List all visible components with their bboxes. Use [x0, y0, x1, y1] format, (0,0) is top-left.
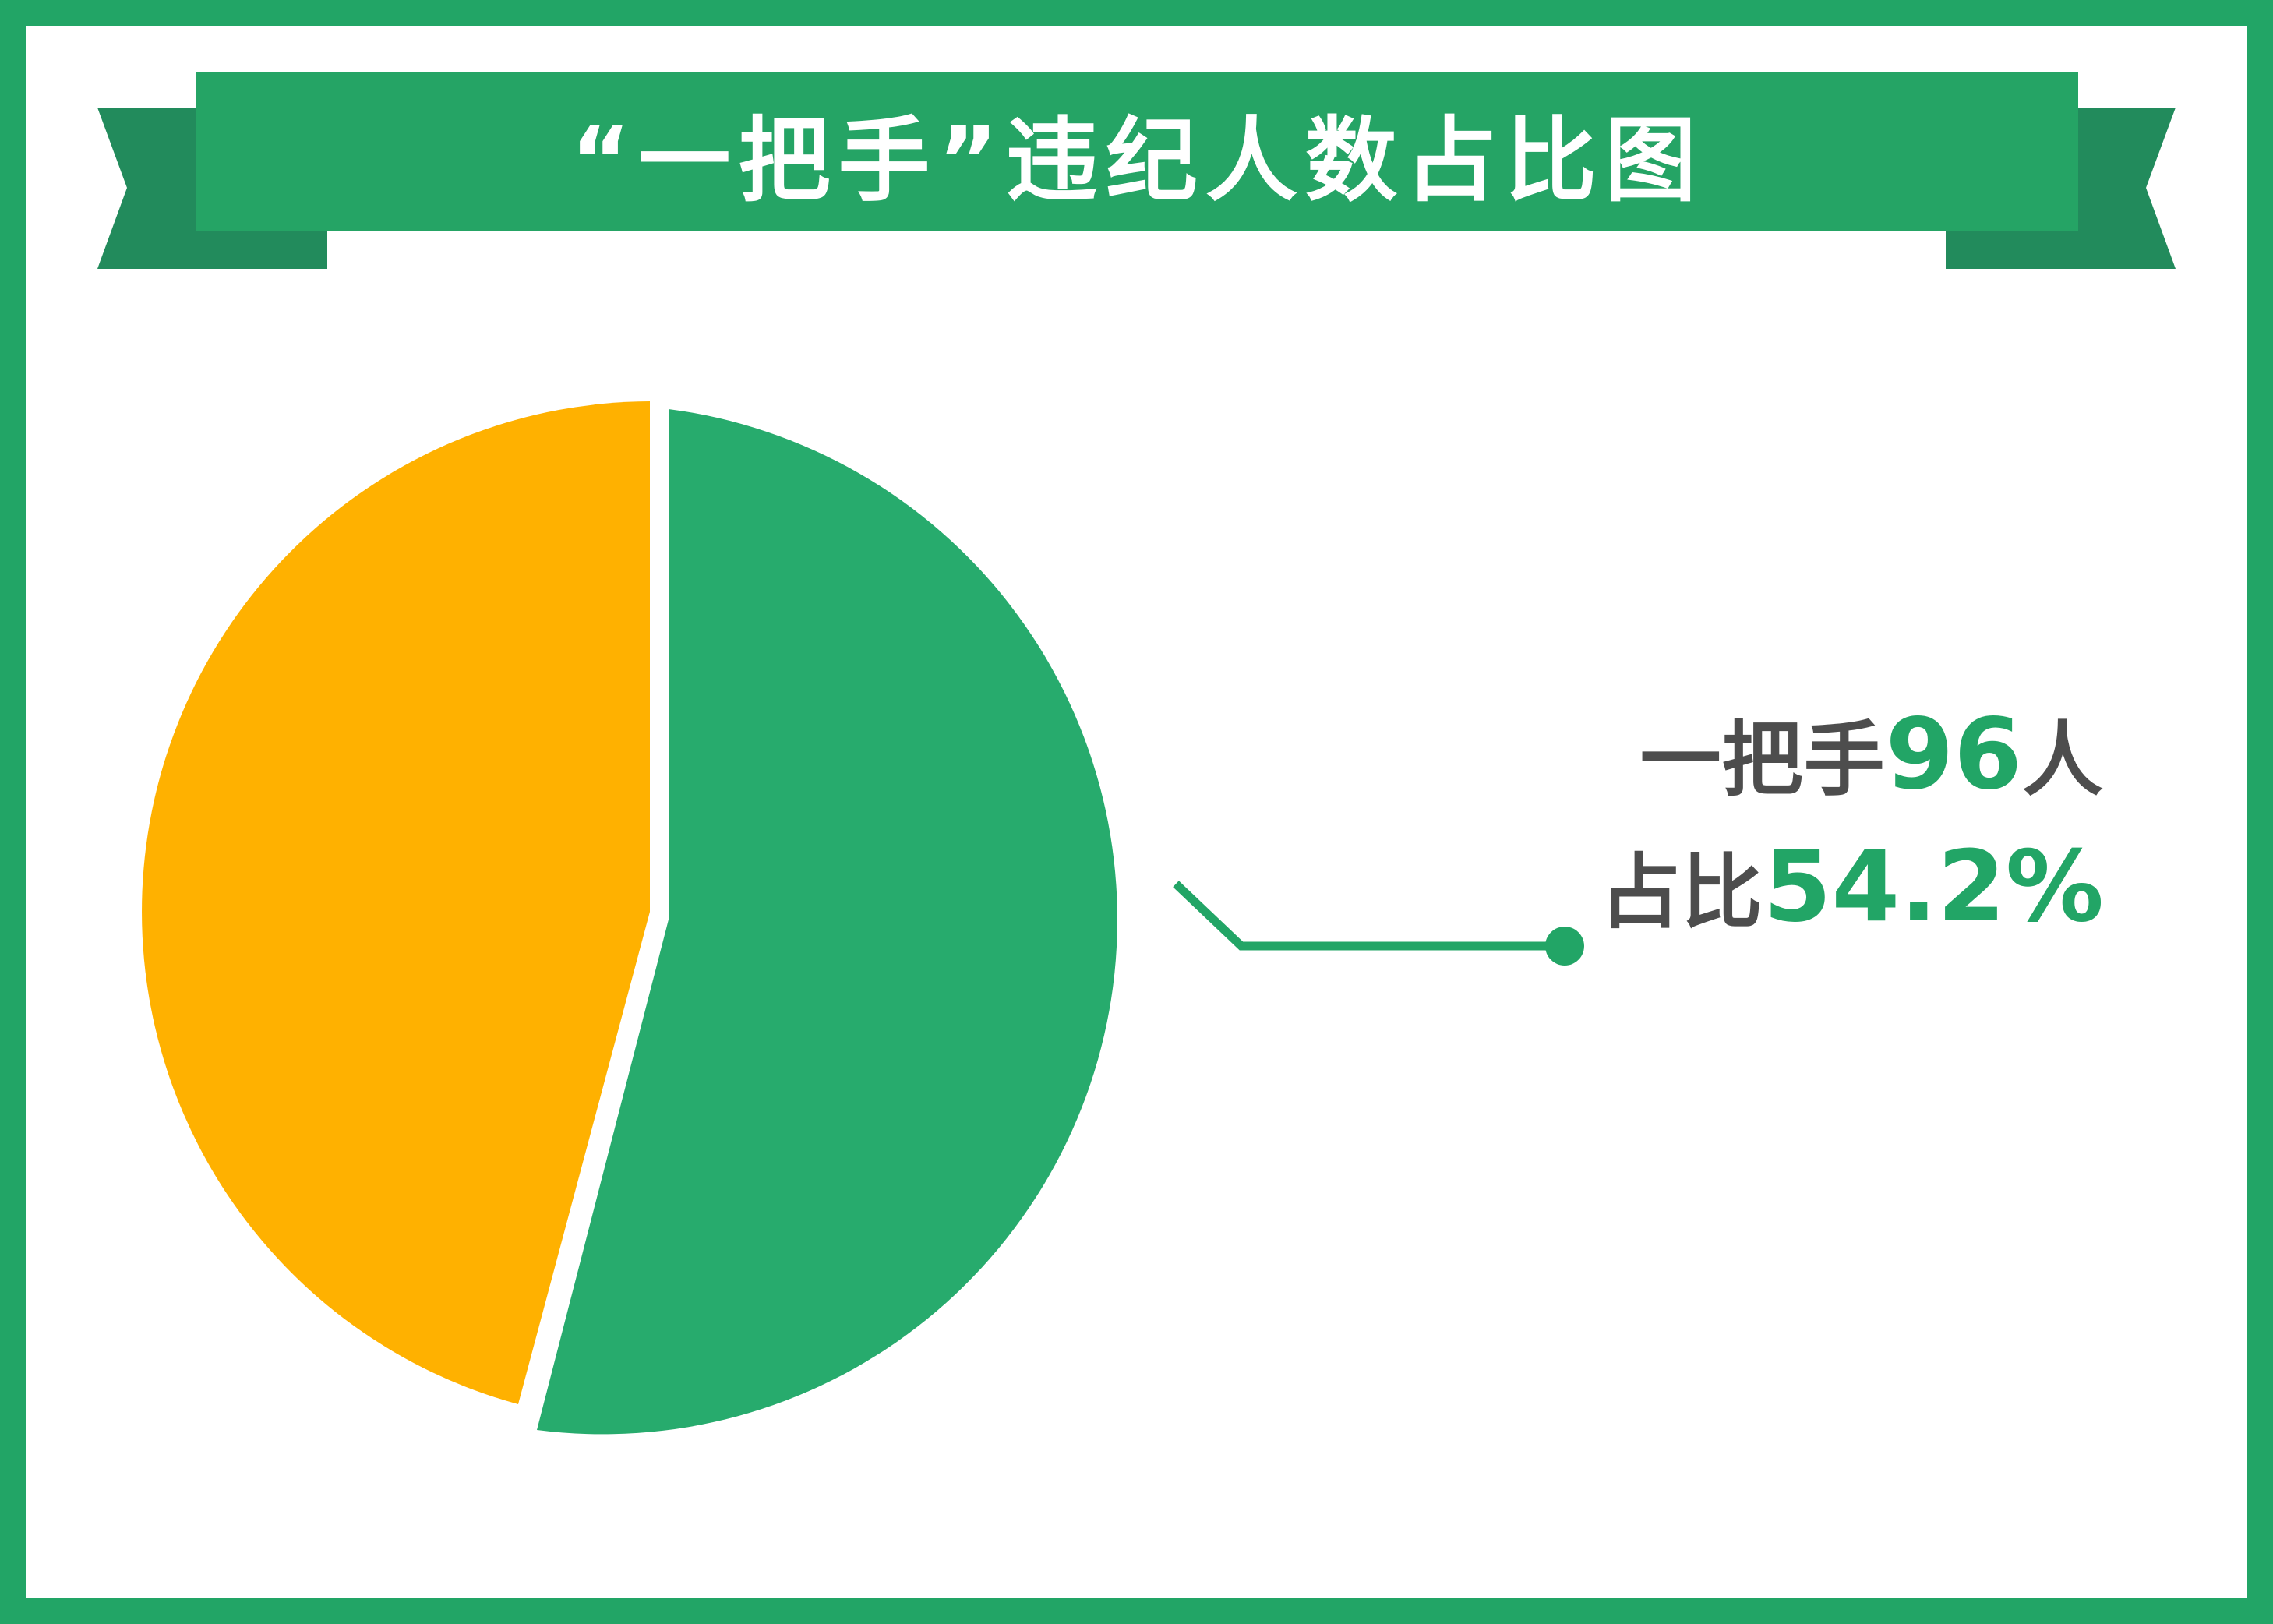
- callout-leader-line: [1179, 887, 1561, 946]
- callout-percent-prefix: 占比: [1600, 845, 1763, 940]
- callout-percent-value: 54.2%: [1763, 829, 2104, 944]
- leader-dot: [1545, 927, 1584, 966]
- callout-count-value: 96: [1886, 697, 2022, 811]
- callout-label-group: 一把手96人 占比54.2%: [1605, 705, 2104, 970]
- infographic-poster: “一把手”违纪人数占比图 一把手96人 占比54.2%: [0, 0, 2273, 1624]
- callout-count-prefix: 一把手: [1640, 712, 1886, 807]
- callout-row-count: 一把手96人: [1640, 705, 2104, 803]
- callout-count-suffix: 人: [2022, 712, 2104, 807]
- pie-slice-other: [142, 401, 650, 1404]
- callout-row-percent: 占比54.2%: [1600, 838, 2104, 936]
